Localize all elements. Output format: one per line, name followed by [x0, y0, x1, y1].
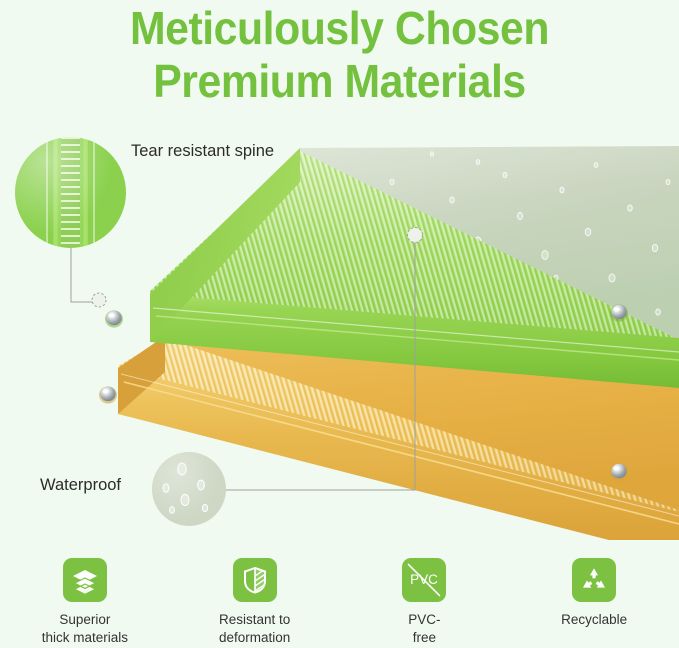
- feature-label: Recyclable: [561, 611, 627, 629]
- marker-dot: [92, 293, 106, 307]
- green-folder-rivet: [610, 304, 628, 321]
- recycle-icon: [580, 566, 608, 594]
- headline-line-2: Premium Materials: [24, 55, 655, 108]
- yellow-folder-rivet: [610, 463, 628, 480]
- shield-icon-tile: [233, 558, 277, 602]
- shield-icon: [242, 566, 268, 594]
- headline-line-1: Meticulously Chosen: [130, 2, 549, 54]
- layers-stack-icon-tile: [63, 558, 107, 602]
- product-feature-banner: Meticulously Chosen Premium Materials: [0, 0, 679, 648]
- callout-label-tear-resistant-spine: Tear resistant spine: [131, 142, 274, 161]
- spine-gloss: [15, 137, 126, 248]
- feature-item-superior-thick-materials: Superior thick materials: [0, 558, 170, 647]
- feature-item-pvc-free: PVC PVC- free: [340, 558, 510, 647]
- callout-label-waterproof: Waterproof: [40, 476, 121, 495]
- recycle-icon-tile: [572, 558, 616, 602]
- feature-label: Superior thick materials: [42, 611, 128, 647]
- marker-dot: [408, 228, 423, 243]
- magnifier-waterproof: [152, 452, 226, 526]
- feature-label: PVC- free: [408, 611, 440, 647]
- page-title: Meticulously Chosen Premium Materials: [24, 2, 655, 108]
- feature-label: Resistant to deformation: [219, 611, 290, 647]
- green-folder-rivet: [105, 310, 123, 327]
- feature-item-recyclable: Recyclable: [509, 558, 679, 647]
- pvc-free-icon-tile: PVC: [402, 558, 446, 602]
- layers-stack-icon: [71, 566, 99, 594]
- pvc-free-icon: PVC: [404, 560, 444, 600]
- water-sheen: [152, 452, 226, 526]
- magnifier-tear-resistant-spine: [15, 137, 126, 248]
- yellow-folder-rivet: [99, 386, 117, 403]
- feature-item-resistant-to-deformation: Resistant to deformation: [170, 558, 340, 647]
- feature-list: Superior thick materials: [0, 558, 679, 647]
